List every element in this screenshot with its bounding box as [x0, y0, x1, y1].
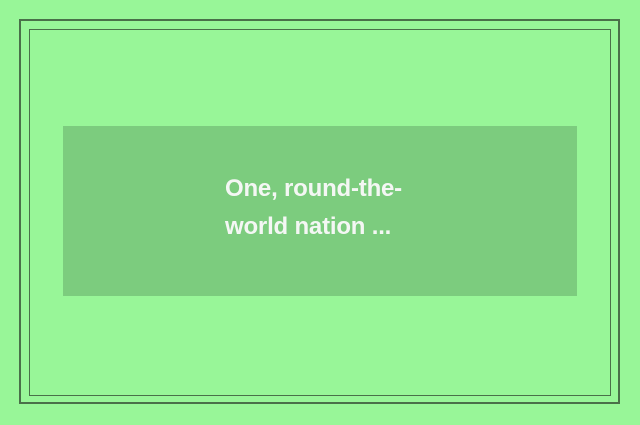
- card-message-text: One, round-the- world nation ...: [225, 170, 485, 246]
- content-card: One, round-the- world nation ...: [63, 126, 577, 296]
- page-canvas: One, round-the- world nation ...: [0, 0, 640, 425]
